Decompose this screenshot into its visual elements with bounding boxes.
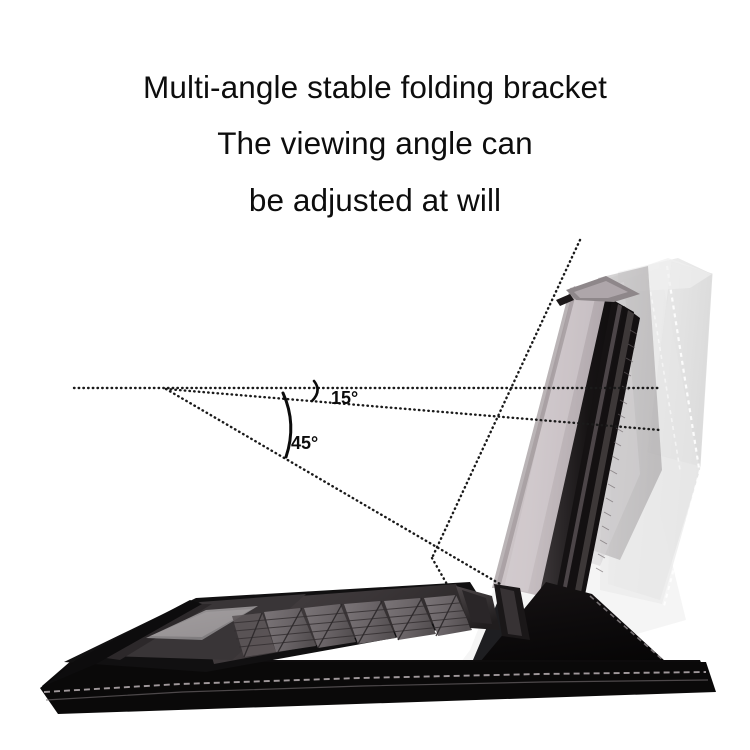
headline-line-2: The viewing angle can	[0, 124, 750, 162]
product-illustration	[0, 0, 750, 750]
product-marketing-image: 15° 45° Multi-angle stable folding brack…	[0, 0, 750, 750]
case-base-panel-shade	[40, 662, 716, 714]
product-photo	[0, 0, 750, 750]
headline-line-3: be adjusted at will	[0, 181, 750, 219]
headline-line-1: Multi-angle stable folding bracket	[0, 68, 750, 106]
